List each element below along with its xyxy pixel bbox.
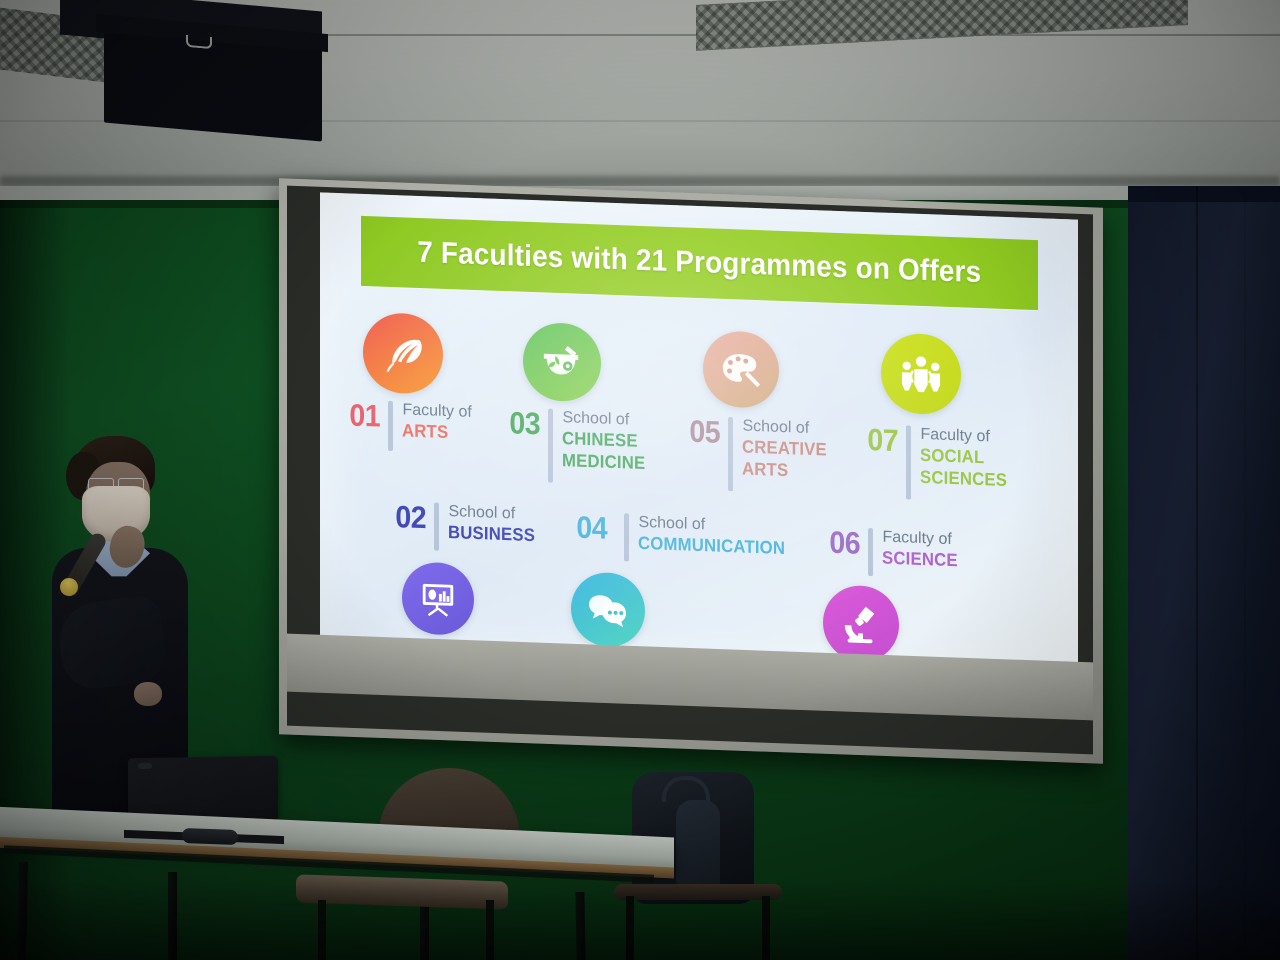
item-number: 07 [867, 424, 898, 456]
slide-title: 7 Faculties with 21 Programmes on Offers [417, 236, 981, 290]
icon-circle-science [823, 584, 899, 663]
item-number: 06 [829, 527, 860, 559]
group-of-people-icon [898, 353, 944, 395]
table-leg [168, 872, 177, 960]
faculty-item-05[interactable]: 05 School of CREATIVEARTS [688, 416, 834, 495]
item-name: BUSINESS [448, 522, 535, 547]
feather-quill-icon [381, 331, 425, 377]
item-name: CREATIVEARTS [742, 436, 827, 483]
icon-circle-chinese-medicine [523, 322, 601, 403]
item-name: CHINESEMEDICINE [562, 428, 645, 475]
item-number: 03 [509, 407, 540, 439]
laptop-hinge [138, 763, 152, 769]
label-divider [906, 425, 911, 499]
microscope-icon [840, 602, 882, 646]
label-divider [434, 503, 439, 551]
presentation-board-icon [418, 578, 458, 619]
label-divider [868, 528, 873, 576]
label-divider [388, 401, 393, 451]
faculty-item-02[interactable]: 02 School of BUSINESS [394, 501, 542, 554]
projection-screen-surface: 7 Faculties with 21 Programmes on Offers [320, 192, 1078, 684]
speech-bubbles-icon [587, 590, 629, 630]
item-name: ARTS [402, 420, 467, 444]
faculty-item-01[interactable]: 01 Faculty of ARTS [348, 399, 472, 453]
label-divider [624, 513, 629, 561]
curtain-fold [1196, 186, 1198, 960]
item-prefix: Faculty of [402, 401, 471, 422]
curtain-rail [1128, 186, 1280, 202]
chair-leg [762, 896, 770, 960]
faculty-item-03[interactable]: 03 School of CHINESEMEDICINE [508, 407, 652, 486]
mortar-pestle-herb-icon [540, 340, 584, 384]
item-name: SOCIALSCIENCES [920, 445, 1007, 492]
icon-circle-creative-arts [703, 330, 779, 409]
chair-leg [486, 900, 494, 960]
second-chair-backrest [614, 884, 782, 900]
remote-clicker [182, 828, 238, 845]
icon-circle-social-sciences [881, 333, 961, 416]
item-number: 04 [576, 512, 607, 544]
paint-palette-icon [719, 348, 763, 392]
label-divider [548, 409, 553, 483]
chair-leg [626, 896, 634, 960]
presenter-hand-lower [134, 682, 162, 706]
table-leg [17, 862, 28, 960]
icon-circle-communication [571, 571, 645, 648]
ceiling-wall-shadow [0, 176, 1280, 186]
projector-bracket-icon [186, 35, 212, 49]
curtain-fold [1244, 186, 1246, 960]
icon-circle-arts [363, 312, 443, 395]
item-number: 02 [395, 501, 426, 533]
item-name: COMMUNICATION [638, 533, 785, 560]
faculty-item-07[interactable]: 07 Faculty of SOCIALSCIENCES [866, 424, 1014, 503]
label-divider [728, 417, 733, 491]
faculty-item-04[interactable]: 04 School of COMMUNICATION [575, 512, 797, 568]
lecture-hall-photo: 7 Faculties with 21 Programmes on Offers [0, 0, 1280, 960]
dark-curtain-panel [1128, 186, 1280, 960]
icon-circle-business [402, 561, 474, 636]
chair-leg [318, 900, 326, 960]
presentation-slide: 7 Faculties with 21 Programmes on Offers [320, 192, 1078, 684]
item-name: SCIENCE [882, 547, 958, 572]
item-number: 05 [689, 416, 720, 448]
table-leg [575, 892, 585, 960]
backpack-front-pocket [676, 800, 720, 896]
faculty-item-06[interactable]: 06 Faculty of SCIENCE [828, 527, 964, 580]
item-number: 01 [349, 399, 380, 431]
slide-title-banner: 7 Faculties with 21 Programmes on Offers [361, 216, 1038, 310]
